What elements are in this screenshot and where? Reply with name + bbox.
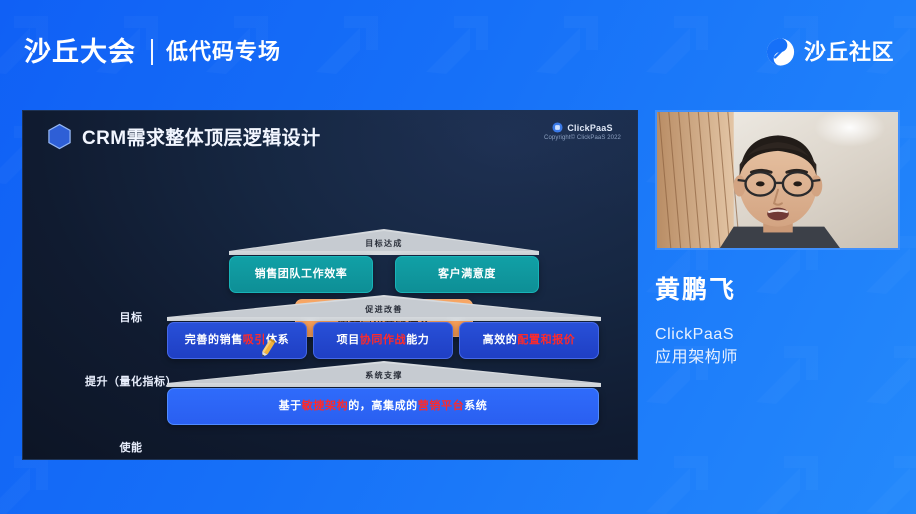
speaker-company: ClickPaaS: [655, 323, 905, 346]
speaker-webcam-feed: [657, 112, 898, 248]
metric-box-customer-satisfaction[interactable]: 客户满意度: [395, 256, 539, 293]
metric-box-sales-efficiency-label: 销售团队工作效率: [255, 267, 348, 283]
support-box-p2: 的，高集成的: [348, 400, 418, 412]
enable-box-2-prefix: 项目: [337, 334, 360, 346]
enable-box-3-prefix: 高效的: [483, 334, 518, 346]
support-box-p1: 基于: [279, 400, 302, 412]
enable-box-2-suffix: 能力: [406, 334, 429, 346]
chevron-promote-improvement: 促进改善: [167, 295, 601, 321]
enable-box-sales-attraction[interactable]: 完善的销售吸引体系: [167, 322, 307, 359]
clickpaas-logo-row: ClickPaaS: [544, 122, 621, 133]
metric-box-customer-satisfaction-label: 客户满意度: [438, 267, 496, 283]
clickpaas-name: ClickPaaS: [567, 123, 612, 133]
speaker-role: 应用架构师: [655, 346, 905, 369]
row-label-goal: 目标: [81, 309, 181, 325]
chevron-goal-achievement: 目标达成: [229, 229, 539, 255]
speaker-webcam-tile[interactable]: [655, 110, 900, 250]
hexagon-icon: [47, 123, 72, 150]
clickpaas-copyright: Copyright© ClickPaaS 2022: [544, 135, 621, 141]
enable-box-3-highlight: 配置和报价: [517, 334, 575, 346]
brand-subtitle: 低代码专场: [166, 41, 281, 63]
community-logo: 沙丘社区: [766, 38, 894, 67]
support-box-h1: 敏捷架构: [302, 400, 348, 412]
chevron-label-system-support: 系统支撑: [365, 370, 403, 381]
brand-title: 沙丘大会: [24, 39, 136, 66]
enable-box-2-highlight: 协同作战: [360, 334, 406, 346]
enable-box-1-prefix: 完善的销售: [185, 334, 243, 346]
speaker-name: 黄鹏飞: [655, 278, 905, 303]
support-box-marketing-platform[interactable]: 基于敏捷架构的，高集成的营销平台系统: [167, 388, 599, 425]
slide-header: CRM需求整体顶层逻辑设计: [47, 123, 320, 150]
support-box-h2: 营销平台: [418, 400, 464, 412]
presentation-stage: 沙丘大会 低代码专场 沙丘社区 CRM需求整体顶层逻辑设计: [0, 0, 916, 514]
support-box-p3: 系统: [464, 400, 487, 412]
slide-title: CRM需求整体顶层逻辑设计: [82, 123, 320, 150]
brand-block: 沙丘大会 低代码专场: [24, 39, 281, 66]
enable-box-efficient-quoting[interactable]: 高效的配置和报价: [459, 322, 599, 359]
page-header: 沙丘大会 低代码专场 沙丘社区: [0, 0, 916, 104]
sandhill-s-logo-icon: [766, 38, 795, 67]
community-name: 沙丘社区: [804, 41, 894, 63]
enable-box-project-collaboration[interactable]: 项目协同作战能力: [313, 322, 453, 359]
clickpaas-branding: ClickPaaS Copyright© ClickPaaS 2022: [544, 122, 621, 141]
row-label-enable: 使能: [81, 439, 181, 455]
vertical-divider-icon: [151, 39, 153, 65]
chevron-system-support: 系统支撑: [167, 361, 601, 387]
presentation-slide[interactable]: CRM需求整体顶层逻辑设计 ClickPaaS Copyright© Click…: [22, 110, 638, 460]
chevron-label-goal-achievement: 目标达成: [365, 238, 403, 249]
metric-box-sales-efficiency[interactable]: 销售团队工作效率: [229, 256, 373, 293]
speaker-info-panel: 黄鹏飞 ClickPaaS 应用架构师: [655, 278, 905, 369]
chevron-label-promote-improvement: 促进改善: [365, 304, 403, 315]
clickpaas-logo-icon: [552, 122, 563, 133]
pencil-highlighter-cursor-icon[interactable]: [258, 337, 278, 359]
